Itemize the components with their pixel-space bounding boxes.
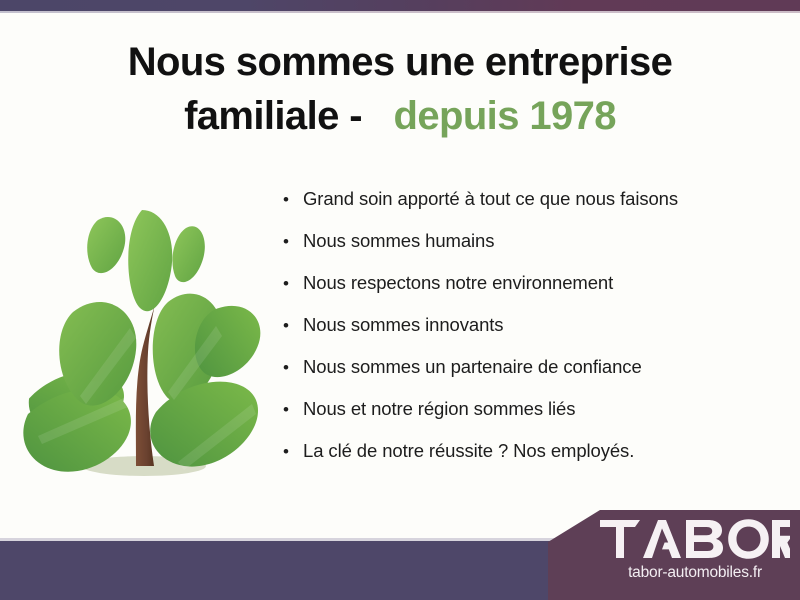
list-item: • Nous sommes humains <box>283 230 783 272</box>
slide-root: Nous sommes une entreprise familiale - d… <box>0 0 800 600</box>
brand-tagline: tabor-automobiles.fr <box>600 564 790 582</box>
list-item: • Grand soin apporté à tout ce que nous … <box>283 188 783 230</box>
list-item: • La clé de notre réussite ? Nos employé… <box>283 440 783 482</box>
tree-illustration <box>18 192 270 488</box>
list-item-label: Nous respectons notre environnement <box>303 272 613 294</box>
bullet-icon: • <box>283 191 303 208</box>
list-item-label: Nous sommes innovants <box>303 314 503 336</box>
brand-logo-inner: tabor-automobiles.fr <box>548 510 800 600</box>
list-item: • Nous respectons notre environnement <box>283 272 783 314</box>
top-accent-bar <box>0 0 800 11</box>
title-line-1: Nous sommes une entreprise <box>0 36 800 90</box>
bullet-icon: • <box>283 443 303 460</box>
bullet-icon: • <box>283 359 303 376</box>
bullet-icon: • <box>283 317 303 334</box>
top-accent-bar-edge <box>0 11 800 13</box>
bullet-icon: • <box>283 401 303 418</box>
title-line-2: familiale - depuis 1978 <box>0 90 800 144</box>
title-line-2-plain: familiale - <box>184 94 362 138</box>
list-item: • Nous sommes innovants <box>283 314 783 356</box>
list-item: • Nous sommes un partenaire de confiance <box>283 356 783 398</box>
page-title: Nous sommes une entreprise familiale - d… <box>0 36 800 143</box>
list-item: • Nous et notre région sommes liés <box>283 398 783 440</box>
list-item-label: Nous et notre région sommes liés <box>303 398 575 420</box>
list-item-label: Nous sommes un partenaire de confiance <box>303 356 642 378</box>
value-list: • Grand soin apporté à tout ce que nous … <box>283 188 783 482</box>
list-item-label: Nous sommes humains <box>303 230 494 252</box>
brand-logo-panel: tabor-automobiles.fr <box>548 510 800 600</box>
list-item-label: La clé de notre réussite ? Nos employés. <box>303 440 634 462</box>
tabor-logo-icon <box>600 518 790 560</box>
bullet-icon: • <box>283 275 303 292</box>
title-line-2-accent: depuis 1978 <box>394 94 616 138</box>
bullet-icon: • <box>283 233 303 250</box>
list-item-label: Grand soin apporté à tout ce que nous fa… <box>303 188 678 210</box>
